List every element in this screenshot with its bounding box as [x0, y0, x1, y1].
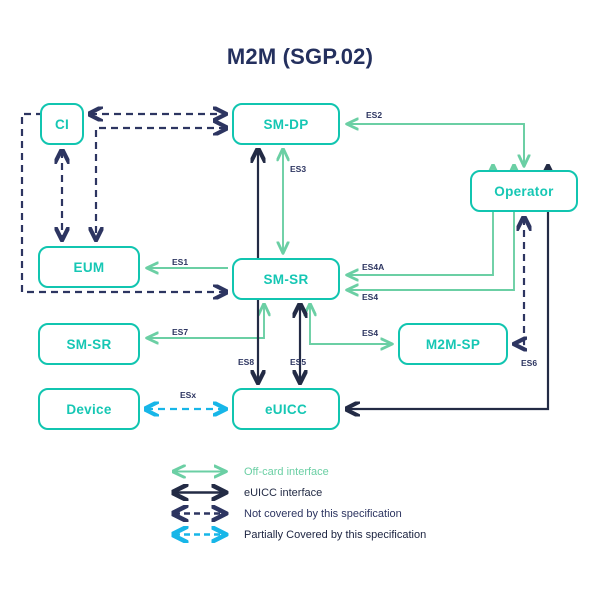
- diagram-root: M2M (SGP.02): [0, 0, 600, 600]
- legend-label: eUICC interface: [244, 487, 322, 499]
- node-label: M2M-SP: [426, 337, 480, 352]
- interface-label-esx: ESx: [180, 390, 196, 400]
- legend-sample-partially-covered: [166, 524, 234, 545]
- node-label: Operator: [494, 184, 553, 199]
- node-ci[interactable]: CI: [40, 103, 84, 145]
- node-eum[interactable]: EUM: [38, 246, 140, 288]
- wire-es2: [347, 124, 524, 166]
- node-label: eUICC: [265, 402, 307, 417]
- interface-label-es7: ES7: [172, 327, 188, 337]
- legend-item-off-card: Off-card interface: [166, 461, 426, 482]
- node-operator[interactable]: Operator: [470, 170, 578, 212]
- node-label: CI: [55, 117, 69, 132]
- node-label: SM-DP: [264, 117, 309, 132]
- legend-sample-not-covered: [166, 503, 234, 524]
- node-sm-sr[interactable]: SM-SR: [232, 258, 340, 300]
- legend-item-not-covered: Not covered by this specification: [166, 503, 426, 524]
- interface-label-es4-right: ES4: [362, 292, 378, 302]
- node-label: EUM: [74, 260, 105, 275]
- interface-label-es4a: ES4A: [362, 262, 384, 272]
- node-m2m-sp[interactable]: M2M-SP: [398, 323, 508, 365]
- interface-label-es2: ES2: [366, 110, 382, 120]
- node-label: SM-SR: [67, 337, 112, 352]
- node-device[interactable]: Device: [38, 388, 140, 430]
- legend: Off-card interface eUICC interface Not c…: [166, 461, 426, 545]
- legend-label: Partially Covered by this specification: [244, 529, 426, 541]
- node-label: SM-SR: [264, 272, 309, 287]
- interface-label-es1: ES1: [172, 257, 188, 267]
- wire-es7: [147, 305, 264, 338]
- wire-es4-m2msp: [310, 305, 392, 344]
- interface-label-es6: ES6: [521, 358, 537, 368]
- wire-operator-m2msp: [514, 218, 524, 344]
- legend-label: Not covered by this specification: [244, 508, 402, 520]
- legend-item-euicc: eUICC interface: [166, 482, 426, 503]
- legend-item-partially-covered: Partially Covered by this specification: [166, 524, 426, 545]
- node-label: Device: [66, 402, 111, 417]
- node-sm-dp[interactable]: SM-DP: [232, 103, 340, 145]
- legend-sample-euicc: [166, 482, 234, 503]
- interface-label-es4-lower: ES4: [362, 328, 378, 338]
- interface-label-es8: ES8: [238, 357, 254, 367]
- node-sm-sr-secondary[interactable]: SM-SR: [38, 323, 140, 365]
- node-euicc[interactable]: eUICC: [232, 388, 340, 430]
- wire-smdp-eum: [96, 128, 226, 240]
- legend-label: Off-card interface: [244, 466, 329, 478]
- interface-label-es3: ES3: [290, 164, 306, 174]
- legend-sample-off-card: [166, 461, 234, 482]
- interface-label-es5: ES5: [290, 357, 306, 367]
